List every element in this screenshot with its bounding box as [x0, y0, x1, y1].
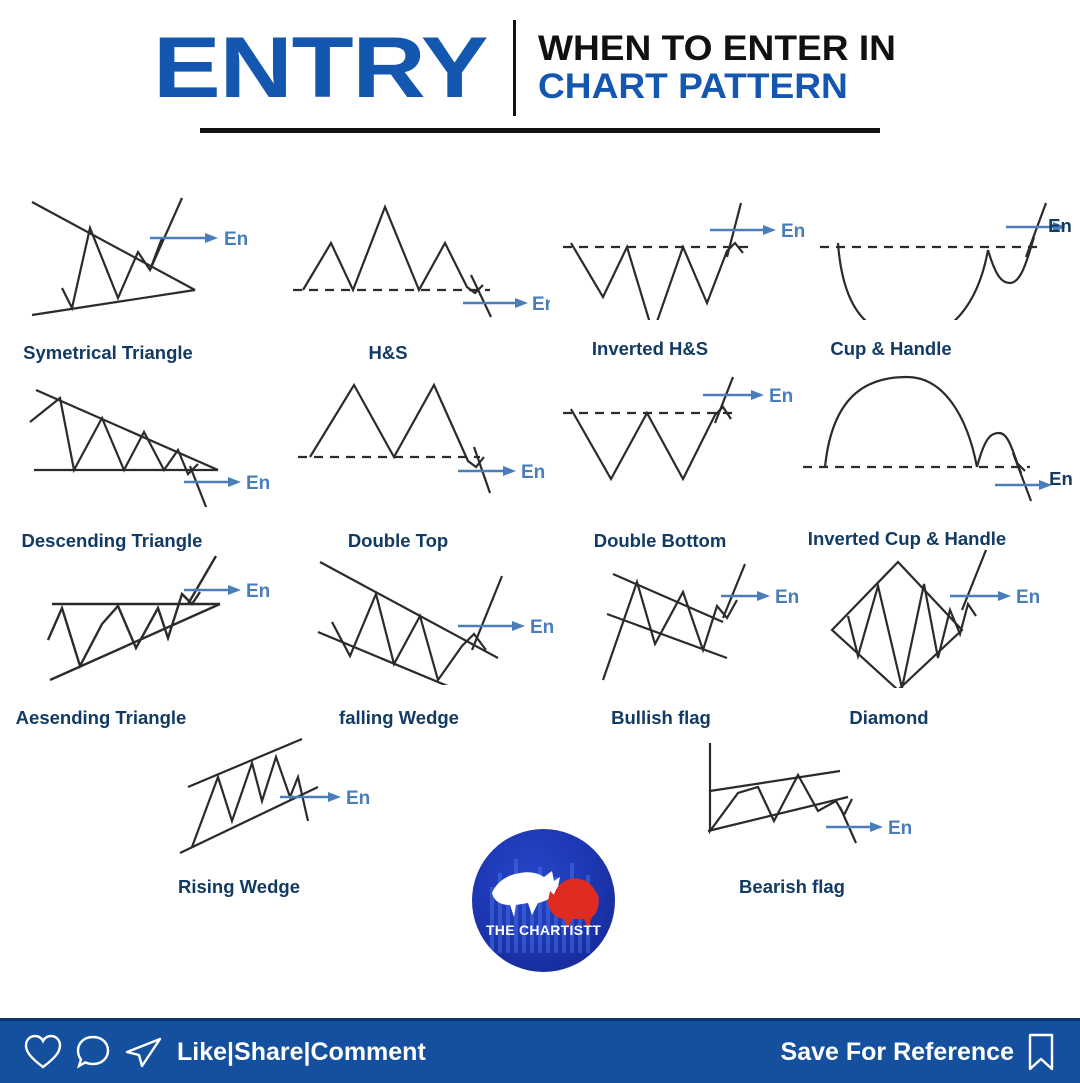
header-underline [200, 128, 880, 133]
entry-arrow-bearish-flag [826, 822, 883, 832]
pattern-label-diamond: Diamond [849, 707, 928, 729]
entry-arrow-descending-triangle [184, 477, 241, 487]
entry-label: En [246, 473, 270, 494]
entry-label: En [888, 818, 912, 839]
pattern-label-ascending-triangle: Aesending Triangle [16, 707, 187, 729]
logo-brand-text: THE CHARTISTT [486, 922, 601, 938]
pattern-falling-wedge: En [290, 550, 560, 685]
pattern-label-rising-wedge: Rising Wedge [178, 876, 300, 898]
page-title: ENTRY [153, 25, 487, 111]
pattern-label-inverted-head-and-shoulders: Inverted H&S [592, 338, 708, 360]
pattern-label-double-bottom: Double Bottom [594, 530, 727, 552]
entry-label: En [532, 294, 550, 315]
entry-label: En [1016, 587, 1040, 608]
header-divider [513, 20, 516, 116]
entry-arrow-diamond [950, 591, 1011, 601]
bookmark-icon[interactable] [1026, 1032, 1056, 1072]
pattern-inverted-head-and-shoulders: En [555, 195, 820, 320]
pattern-bearish-flag: En [680, 735, 945, 860]
entry-label: En [781, 221, 805, 242]
entry-label: En [775, 587, 799, 608]
footer-bar: Like|Share|Comment Save For Reference [0, 1018, 1080, 1083]
entry-arrow-head-and-shoulders [463, 298, 528, 308]
pattern-label-bearish-flag: Bearish flag [739, 876, 845, 898]
entry-arrow-bullish-flag [721, 591, 770, 601]
entry-arrow-double-bottom [703, 390, 764, 400]
pattern-label-descending-triangle: Descending Triangle [22, 530, 203, 552]
pattern-head-and-shoulders: En [285, 195, 550, 320]
pattern-label-cup-and-handle: Cup & Handle [830, 338, 951, 360]
entry-label: En [521, 462, 545, 483]
pattern-label-double-top: Double Top [348, 530, 448, 552]
pattern-rising-wedge: En [150, 735, 415, 860]
pattern-diamond: En [810, 548, 1075, 688]
entry-label: En [769, 386, 793, 407]
pattern-label-head-and-shoulders: H&S [368, 342, 407, 364]
header-subtitle-line1: WHEN TO ENTER IN [538, 30, 896, 68]
pattern-ascending-triangle: En [20, 552, 285, 682]
comment-icon[interactable] [75, 1034, 111, 1070]
footer-like-share-comment-text[interactable]: Like|Share|Comment [177, 1038, 426, 1067]
pattern-label-bullish-flag: Bullish flag [611, 707, 711, 729]
pattern-cup-and-handle [810, 195, 1075, 320]
logo-chart-bars [472, 829, 615, 972]
brand-logo: THE CHARTISTT [472, 829, 615, 972]
entry-label-inverted-cup-and-handle: En [1049, 468, 1073, 490]
entry-label: En [246, 581, 270, 602]
entry-arrow-inverted-head-and-shoulders [710, 225, 776, 235]
entry-label: En [346, 788, 370, 809]
pattern-label-inverted-cup-and-handle: Inverted Cup & Handle [808, 528, 1006, 550]
entry-label-cup-and-handle: En [1048, 215, 1072, 237]
heart-icon[interactable] [24, 1034, 62, 1070]
entry-label: En [530, 617, 554, 638]
pattern-label-falling-wedge: falling Wedge [339, 707, 459, 729]
infographic-canvas: ENTRY WHEN TO ENTER IN CHART PATTERN En [0, 0, 1080, 1080]
pattern-symmetrical-triangle: En [10, 190, 270, 320]
send-icon[interactable] [124, 1034, 164, 1070]
pattern-double-top: En [288, 375, 553, 500]
entry-label: En [224, 229, 248, 250]
pattern-inverted-cup-and-handle [795, 375, 1065, 505]
pattern-bullish-flag: En [595, 552, 830, 682]
header-subtitle-line2: CHART PATTERN [538, 68, 896, 106]
footer-save-text[interactable]: Save For Reference [781, 1038, 1014, 1067]
header: ENTRY WHEN TO ENTER IN CHART PATTERN [0, 18, 1080, 138]
logo-text-bar: THE CHARTISTT [484, 917, 603, 943]
pattern-descending-triangle: En [12, 382, 277, 507]
pattern-label-symmetrical-triangle: Symetrical Triangle [23, 342, 193, 364]
pattern-double-bottom: En [555, 375, 820, 500]
entry-arrow-double-top [458, 466, 516, 476]
entry-arrow-falling-wedge [458, 621, 525, 631]
entry-arrow-ascending-triangle [184, 585, 241, 595]
